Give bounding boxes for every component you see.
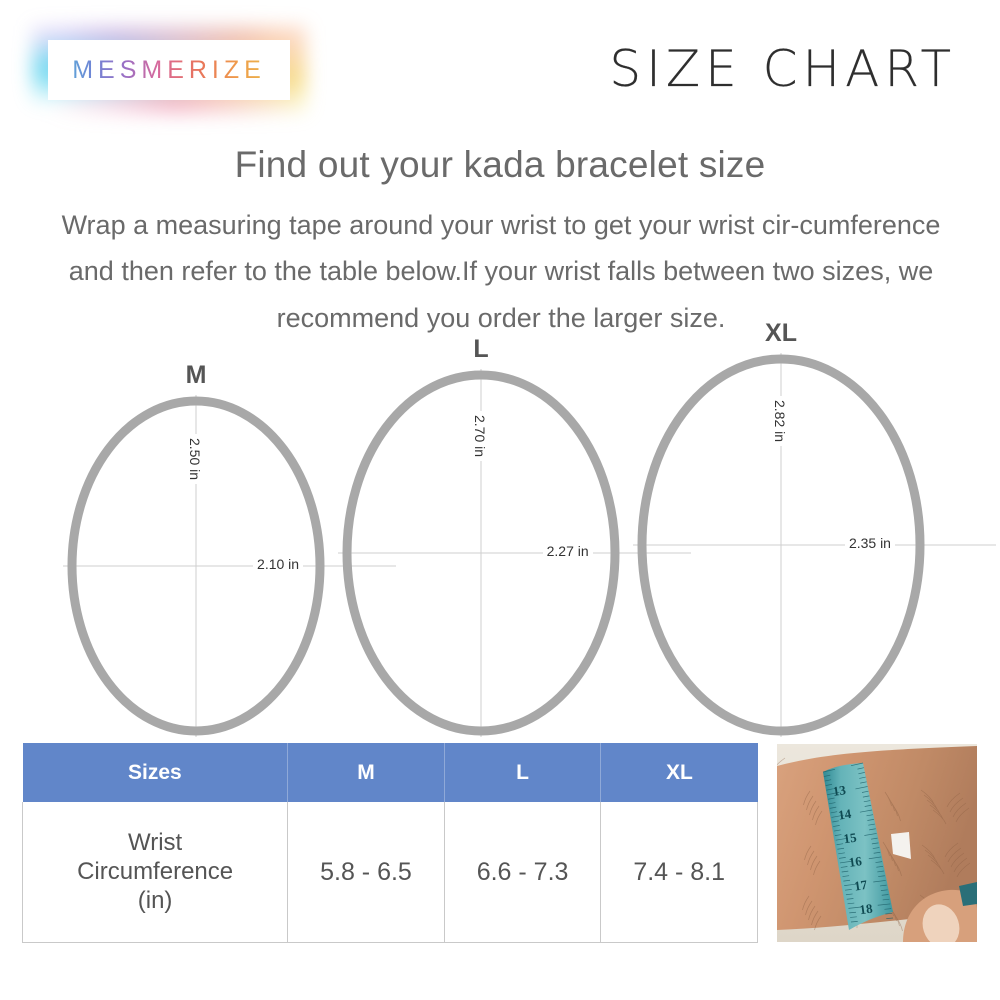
oval-width-label: 2.35 in <box>845 535 895 551</box>
oval-size-label: M <box>63 363 329 388</box>
oval-width-label: 2.10 in <box>253 556 303 572</box>
size-chart-page: MESMERIZE SIZE CHART Find out your kada … <box>0 0 1000 1000</box>
oval-size-label: L <box>338 337 624 362</box>
table-header-xl: XL <box>601 743 758 802</box>
cell-wrist-circumference-m: 5.8 - 6.5 <box>288 802 445 942</box>
svg-text:18: 18 <box>858 900 873 917</box>
table-header-m: M <box>288 743 445 802</box>
table-head: Sizes M L XL <box>23 743 758 802</box>
svg-text:17: 17 <box>853 877 868 894</box>
svg-text:14: 14 <box>837 806 852 823</box>
page-title: SIZE CHART <box>609 44 956 94</box>
logo-wordmark: MESMERIZE <box>48 40 290 100</box>
cell-wrist-circumference-l: 6.6 - 7.3 <box>444 802 601 942</box>
cell-wrist-circumference-xl: 7.4 - 8.1 <box>601 802 758 942</box>
size-table: Sizes M L XL WristCircumference(in) 5.8 … <box>22 743 758 943</box>
table-header-l: L <box>444 743 601 802</box>
svg-text:15: 15 <box>842 829 857 846</box>
oval-shape <box>633 350 1000 750</box>
table-header-sizes: Sizes <box>23 743 288 802</box>
table-body: WristCircumference(in) 5.8 - 6.5 6.6 - 7… <box>23 802 758 942</box>
table-header-row: Sizes M L XL <box>23 743 758 802</box>
oval-height-label: 2.70 in <box>472 411 488 461</box>
row-label-wrist-circumference: WristCircumference(in) <box>23 802 288 942</box>
table-row: WristCircumference(in) 5.8 - 6.5 6.6 - 7… <box>23 802 758 942</box>
oval-width-label: 2.27 in <box>543 543 593 559</box>
svg-text:16: 16 <box>848 853 863 870</box>
bracelet-dimension-diagrams: M2.10 in2.50 inL2.27 in2.70 inXL2.35 in2… <box>0 345 1000 740</box>
oval-size-label: XL <box>633 321 929 346</box>
oval-diagram-xl: XL2.35 in2.82 in <box>633 350 1000 750</box>
oval-height-label: 2.50 in <box>187 434 203 484</box>
oval-height-label: 2.82 in <box>772 396 788 446</box>
wrist-measuring-photo: 131415161718 <box>777 744 977 942</box>
svg-text:13: 13 <box>832 782 847 799</box>
section-heading: Find out your kada bracelet size <box>0 144 1000 186</box>
brand-logo: MESMERIZE <box>48 40 290 100</box>
